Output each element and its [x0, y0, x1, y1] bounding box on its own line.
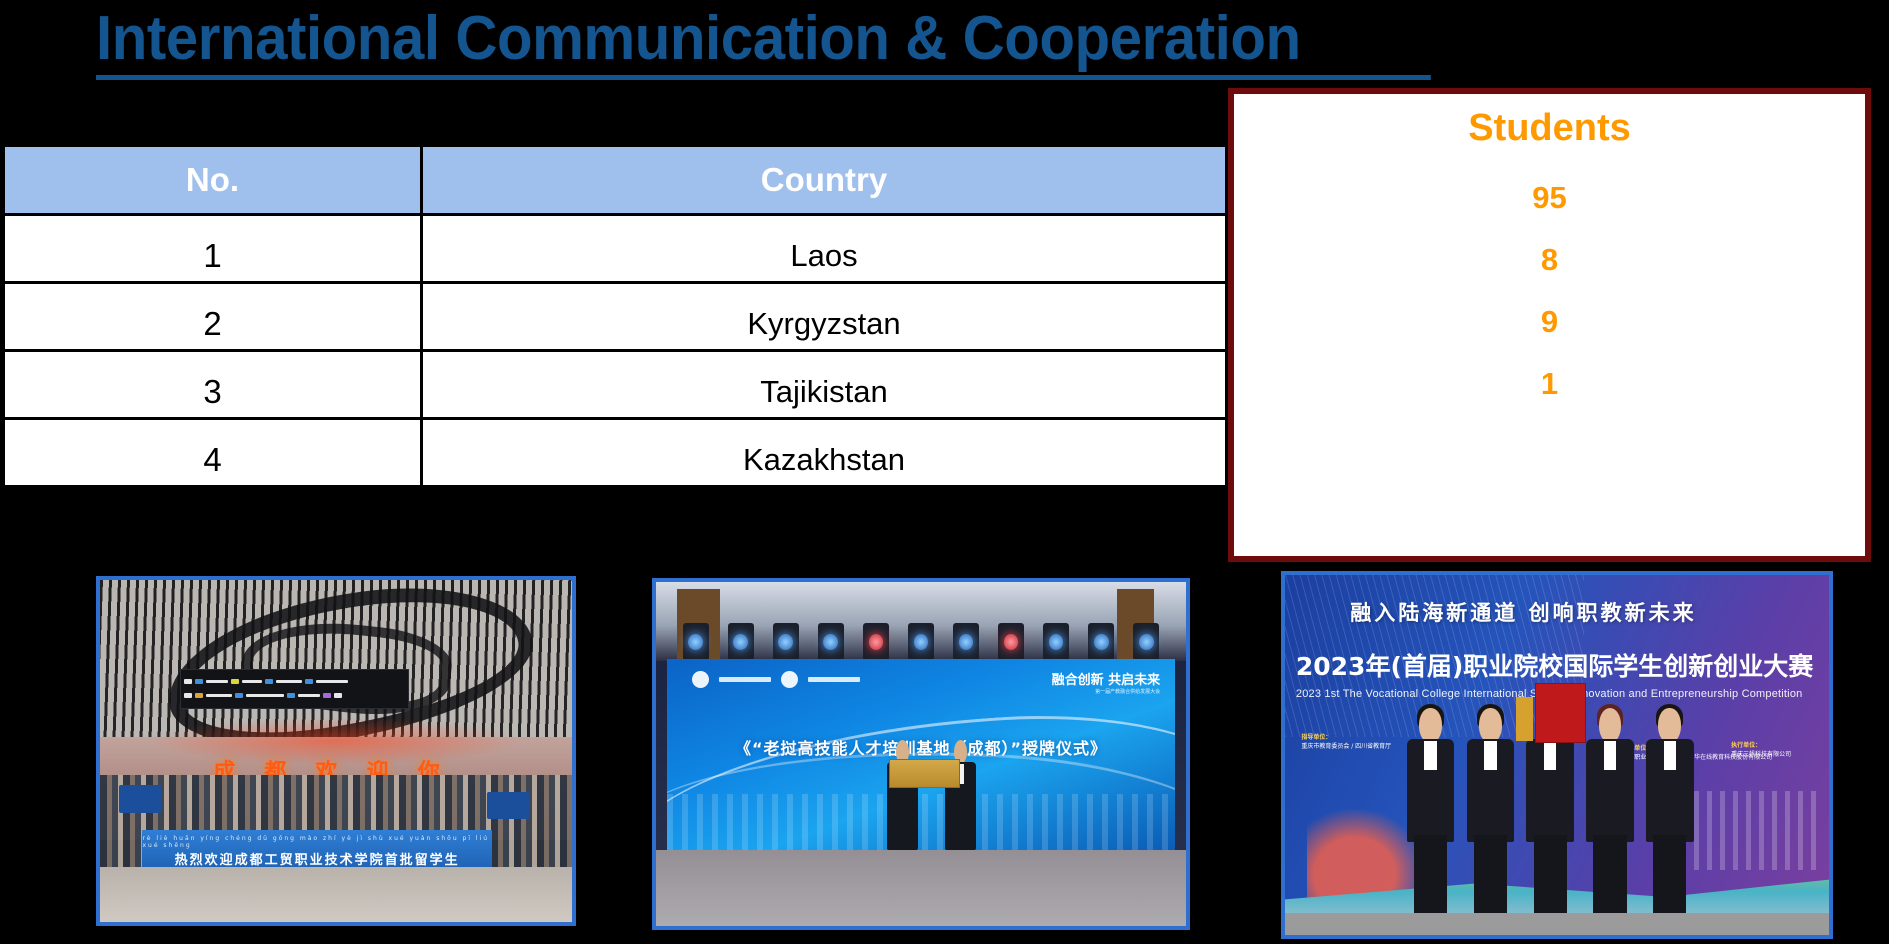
ceremony-plaque: [889, 759, 960, 789]
airport-floor: [100, 867, 572, 922]
table-row: 3 Tajikistan: [4, 351, 1227, 419]
table-header-country: Country: [422, 146, 1227, 215]
college-logo-icon: [781, 671, 798, 688]
airport-placard-left: [119, 785, 161, 812]
stage-light-icon: [998, 623, 1024, 661]
student-head: [1479, 708, 1502, 743]
student-pants: [1534, 835, 1567, 913]
car-hailing-icon: [323, 693, 331, 698]
student-shirt: [1604, 741, 1616, 770]
table-header-no: No.: [4, 146, 422, 215]
table-header-no-label: No.: [5, 161, 420, 199]
airplane-icon: [305, 679, 313, 684]
sign-text: [246, 694, 284, 697]
credit-label: 执行单位：: [1731, 741, 1791, 750]
country-name: Kyrgyzstan: [423, 292, 1225, 342]
arrow-left-icon: [184, 693, 192, 698]
student-figure: [1644, 708, 1696, 913]
photo-competition-content: 融入陆海新通道 创响职教新未来 2023年(首届)职业院校国际学生创新创业大赛 …: [1285, 575, 1829, 935]
underpass-icon: [235, 693, 243, 698]
ceremony-person-left: [884, 740, 921, 850]
page-title-wrapper: International Communication & Cooperatio…: [0, 0, 1889, 90]
country-name: Kazakhstan: [423, 428, 1225, 478]
country-name: Tajikistan: [423, 360, 1225, 410]
college-logo-icon: [692, 671, 709, 688]
student-figure: [1405, 708, 1457, 913]
competition-banner-handwritten-slogan: 融入陆海新通道 创响职教新未来: [1350, 597, 1807, 627]
banner-hanzi: 热烈欢迎成都工贸职业技术学院首批留学生: [175, 849, 460, 868]
photo-ceremony-content: 融合创新 共启未来 第一届产教融合供给发展大会 《“老挝高技能人才培训基地（成都…: [656, 582, 1186, 926]
ceremony-screen-subtitle: 第一届产教融合供给发展大会: [1052, 688, 1161, 695]
arrow-up-icon: [184, 679, 192, 684]
table-row: 1 Laos: [4, 215, 1227, 283]
row-number: 1: [5, 223, 420, 275]
stage-light-icon: [863, 623, 889, 661]
sign-text: [316, 680, 348, 683]
student-head: [1599, 708, 1622, 743]
credit-orgs: 重庆市教育委员会 / 四川省教育厅: [1301, 742, 1391, 751]
parking-icon: [195, 679, 203, 684]
stage-light-icon: [1088, 623, 1114, 661]
competition-certificate: [1535, 683, 1586, 743]
student-figure: [1584, 708, 1636, 913]
student-count-value: 9: [1234, 304, 1865, 340]
stage-light-icon: [908, 623, 934, 661]
student-shirt: [1424, 741, 1436, 770]
student-figure: [1465, 708, 1517, 913]
photo-competition-award: 融入陆海新通道 创响职教新未来 2023年(首届)职业院校国际学生创新创业大赛 …: [1281, 571, 1833, 939]
airport-sign-row-bottom: [181, 693, 408, 698]
table-cell-no: 1: [4, 215, 422, 283]
table-row: 2 Kyrgyzstan: [4, 283, 1227, 351]
competition-trophy: [1516, 697, 1532, 740]
table-cell-country: Kazakhstan: [422, 419, 1227, 487]
screen-city-skyline: [667, 794, 1176, 852]
sign-text: [276, 680, 302, 683]
competition-credit-exec: 执行单位： 重庆三帆科技有限公司: [1731, 741, 1791, 759]
student-head: [1658, 708, 1681, 743]
tour-bus-icon: [195, 693, 203, 698]
stage-light-icon: [1133, 623, 1159, 661]
arrow-right-icon: [334, 693, 342, 698]
airport-direction-sign: [180, 669, 409, 709]
sign-text: [206, 694, 232, 697]
stage-light-icon: [683, 623, 709, 661]
photo-airport-content: 成 都 欢 迎 你 rè liè huān yíng chéng dū gōng…: [100, 580, 572, 922]
student-pants: [1414, 835, 1447, 913]
student-count-value: 8: [1234, 242, 1865, 278]
stage-light-icon: [773, 623, 799, 661]
stage-light-icon: [1043, 623, 1069, 661]
credit-orgs: 重庆三帆科技有限公司: [1731, 750, 1791, 759]
student-shirt: [1484, 741, 1496, 770]
student-count-value: 95: [1234, 180, 1865, 216]
stage-light-icon: [728, 623, 754, 661]
row-number: 4: [5, 427, 420, 479]
banner-pinyin: rè liè huān yíng chéng dū gōng mào zhí y…: [142, 835, 491, 849]
photo-plaque-ceremony: 融合创新 共启未来 第一届产教融合供给发展大会 《“老挝高技能人才培训基地（成都…: [652, 578, 1190, 930]
table-cell-no: 3: [4, 351, 422, 419]
page-title: International Communication & Cooperatio…: [96, 6, 1431, 80]
competition-banner-title-cn: 2023年(首届)职业院校国际学生创新创业大赛: [1296, 647, 1818, 683]
ceremony-stage-floor: [656, 850, 1186, 926]
table-cell-no: 4: [4, 419, 422, 487]
country-table: No. Country 1 Laos 2 Kyrgyzstan: [2, 145, 1228, 488]
ceremony-screen-logos: [692, 671, 860, 688]
credit-label: 指导单位：: [1301, 733, 1391, 742]
student-pants: [1653, 835, 1686, 913]
student-head: [1419, 708, 1442, 743]
ceremony-led-screen: 融合创新 共启未来 第一届产教融合供给发展大会 《“老挝高技能人才培训基地（成都…: [667, 659, 1176, 852]
airport-placard-right: [487, 792, 529, 819]
students-panel-title: Students: [1234, 107, 1865, 150]
table-cell-country: Tajikistan: [422, 351, 1227, 419]
table-cell-country: Laos: [422, 215, 1227, 283]
stage-light-icon: [953, 623, 979, 661]
table-header-country-label: Country: [423, 161, 1225, 199]
college-logo-label: [808, 677, 860, 682]
ceremony-screen-slogan-block: 融合创新 共启未来 第一届产教融合供给发展大会: [1052, 669, 1161, 695]
row-number: 3: [5, 359, 420, 411]
student-shirt: [1664, 741, 1676, 770]
country-name: Laos: [423, 224, 1225, 274]
sign-text: [242, 680, 262, 683]
table-cell-country: Kyrgyzstan: [422, 283, 1227, 351]
ceremony-screen-slogan: 融合创新 共启未来: [1052, 669, 1161, 688]
college-logo-label: [719, 677, 771, 682]
student-pants: [1593, 835, 1626, 913]
student-count-value: 1: [1234, 366, 1865, 402]
stage-light-icon: [818, 623, 844, 661]
competition-ground: [1285, 913, 1829, 935]
ceremony-person-right: [942, 740, 979, 850]
info-icon: [287, 693, 295, 698]
sign-text: [206, 680, 228, 683]
competition-credit-guide: 指导单位： 重庆市教育委员会 / 四川省教育厅: [1301, 733, 1391, 751]
sign-text: [298, 694, 320, 697]
table-header-row: No. Country: [4, 146, 1227, 215]
bus-icon: [265, 679, 273, 684]
table-cell-no: 2: [4, 283, 422, 351]
photo-airport-arrival: 成 都 欢 迎 你 rè liè huān yíng chéng dū gōng…: [96, 576, 576, 926]
ceremony-stage-lights: [683, 623, 1160, 661]
taxi-icon: [231, 679, 239, 684]
student-pants: [1474, 835, 1507, 913]
table-row: 4 Kazakhstan: [4, 419, 1227, 487]
row-number: 2: [5, 291, 420, 343]
airport-sign-row-top: [181, 679, 408, 684]
students-panel: Students 95 8 9 1: [1228, 88, 1871, 562]
ceremony-screen-headline: 《“老挝高技能人才培训基地（成都）”授牌仪式》: [667, 735, 1176, 759]
student-shirt: [1544, 741, 1556, 770]
